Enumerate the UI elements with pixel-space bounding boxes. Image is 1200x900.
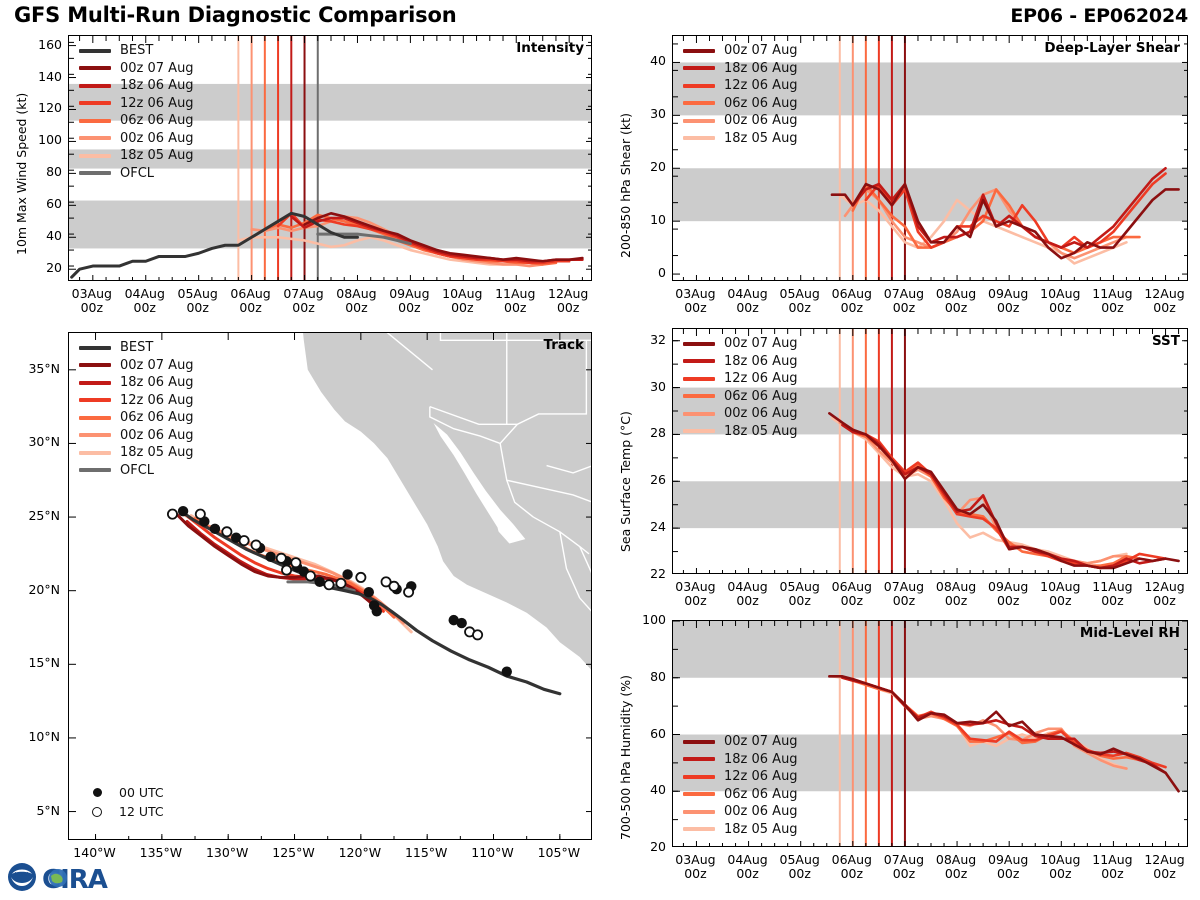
legend-intensity-item[interactable]: OFCL: [79, 165, 194, 183]
legend-track-item[interactable]: 06z 06 Aug: [79, 409, 194, 427]
axis-tick-label: 40: [628, 782, 666, 797]
axis-tick-label: 03Aug00z: [667, 853, 723, 882]
axis-tick-label: 105°W: [529, 846, 589, 860]
shear-ylabel: 200-850 hPa Shear (kt): [618, 113, 633, 258]
legend-color-swatch: [683, 740, 715, 744]
axis-tick-label: 03Aug00z: [64, 287, 120, 316]
legend-intensity-item[interactable]: BEST: [79, 42, 194, 60]
legend-label: OFCL: [120, 463, 154, 478]
legend-label: 18z 06 Aug: [120, 375, 194, 390]
axis-tick-label: 11Aug00z: [1084, 287, 1140, 316]
track-title: Track: [544, 337, 584, 353]
legend-label: 18z 05 Aug: [724, 822, 798, 837]
axis-tick-label: 10Aug00z: [1032, 287, 1088, 316]
legend-color-swatch: [79, 84, 111, 88]
legend-track-markers: 00 UTC12 UTC: [81, 783, 164, 821]
legend-color-swatch: [79, 66, 111, 70]
axis-tick-label: 07Aug00z: [276, 287, 332, 316]
axis-tick-label: 05Aug00z: [772, 287, 828, 316]
legend-color-swatch: [79, 136, 111, 140]
legend-color-swatch: [683, 429, 715, 433]
axis-tick-label: 135°W: [131, 846, 191, 860]
legend-label: 00z 07 Aug: [120, 61, 194, 76]
axis-tick-label: 05Aug00z: [170, 287, 226, 316]
axis-tick-label: 120: [24, 100, 62, 115]
sst-title: SST: [1152, 333, 1180, 349]
legend-marker-item: 00 UTC: [81, 783, 164, 802]
axis-tick-label: 11Aug00z: [1084, 853, 1140, 882]
legend-marker-label: 00 UTC: [119, 785, 164, 800]
axis-tick-label: 09Aug00z: [980, 287, 1036, 316]
legend-track-item[interactable]: 00z 07 Aug: [79, 357, 194, 375]
legend-sst-item[interactable]: 00z 07 Aug: [683, 335, 798, 353]
axis-tick-label: 40: [24, 228, 62, 243]
legend-intensity-item[interactable]: 00z 06 Aug: [79, 130, 194, 148]
legend-color-swatch: [79, 451, 111, 455]
legend-label: 00z 07 Aug: [724, 734, 798, 749]
legend-color-swatch: [79, 119, 111, 123]
legend-label: 12z 06 Aug: [120, 393, 194, 408]
legend-label: 06z 06 Aug: [724, 787, 798, 802]
legend-intensity-item[interactable]: 06z 06 Aug: [79, 112, 194, 130]
legend-label: 00z 07 Aug: [724, 336, 798, 351]
axis-tick-label: 60: [628, 726, 666, 741]
legend-label: 12z 06 Aug: [120, 96, 194, 111]
legend-color-swatch: [79, 416, 111, 420]
legend-rh-item[interactable]: 00z 07 Aug: [683, 733, 798, 751]
legend-color-swatch: [683, 775, 715, 779]
panel-shear: Deep-Layer Shear 00z 07 Aug18z 06 Aug12z…: [672, 35, 1188, 281]
legend-label: BEST: [120, 340, 153, 355]
legend-label: 00z 06 Aug: [724, 406, 798, 421]
axis-tick-label: 125°W: [264, 846, 324, 860]
footer-logos: NOAA CIRA: [6, 858, 134, 898]
legend-shear-item[interactable]: 12z 06 Aug: [683, 77, 798, 95]
axis-tick-label: 80: [628, 669, 666, 684]
legend-color-swatch: [683, 412, 715, 416]
axis-tick-label: 11Aug00z: [487, 287, 543, 316]
axis-tick-label: 11Aug00z: [1084, 580, 1140, 609]
noaa-logo: NOAA: [8, 863, 36, 891]
legend-color-swatch: [683, 66, 715, 70]
legend-intensity-item[interactable]: 00z 07 Aug: [79, 60, 194, 78]
legend-color-swatch: [683, 757, 715, 761]
legend-track-item[interactable]: 18z 06 Aug: [79, 374, 194, 392]
axis-tick-label: 0: [628, 265, 666, 280]
axis-tick-label: 03Aug00z: [667, 580, 723, 609]
axis-tick-label: 28: [628, 425, 666, 440]
legend-track-item[interactable]: 00z 06 Aug: [79, 427, 194, 445]
legend-label: 06z 06 Aug: [724, 389, 798, 404]
legend-color-swatch: [79, 468, 111, 472]
axis-tick-label: 06Aug00z: [824, 853, 880, 882]
axis-tick-label: 20: [24, 260, 62, 275]
legend-intensity: BEST00z 07 Aug18z 06 Aug12z 06 Aug06z 06…: [79, 42, 194, 182]
legend-marker-item: 12 UTC: [81, 802, 164, 821]
legend-label: 18z 06 Aug: [724, 752, 798, 767]
legend-shear-item[interactable]: 00z 06 Aug: [683, 112, 798, 130]
legend-label: 18z 05 Aug: [724, 424, 798, 439]
legend-track-item[interactable]: OFCL: [79, 462, 194, 480]
legend-color-swatch: [79, 381, 111, 385]
axis-tick-label: 05Aug00z: [772, 580, 828, 609]
legend-color-swatch: [79, 171, 111, 175]
axis-tick-label: 12Aug00z: [1137, 580, 1193, 609]
legend-color-swatch: [683, 827, 715, 831]
legend-label: 18z 05 Aug: [120, 445, 194, 460]
legend-color-swatch: [683, 394, 715, 398]
panel-track: Track BEST00z 07 Aug18z 06 Aug12z 06 Aug…: [68, 332, 592, 840]
axis-tick-label: 08Aug00z: [928, 287, 984, 316]
axis-tick-label: 140: [24, 69, 62, 84]
legend-label: 12z 06 Aug: [724, 371, 798, 386]
legend-label: 06z 06 Aug: [120, 410, 194, 425]
panel-intensity: Intensity BEST00z 07 Aug18z 06 Aug12z 06…: [68, 35, 592, 281]
legend-label: BEST: [120, 43, 153, 58]
legend-rh-item[interactable]: 18z 06 Aug: [683, 751, 798, 769]
axis-tick-label: 24: [628, 519, 666, 534]
axis-tick-label: 12Aug00z: [540, 287, 596, 316]
legend-intensity-item[interactable]: 18z 06 Aug: [79, 77, 194, 95]
legend-shear-item[interactable]: 06z 06 Aug: [683, 95, 798, 113]
axis-tick-label: 110°W: [463, 846, 523, 860]
legend-label: 00z 07 Aug: [724, 43, 798, 58]
legend-track: BEST00z 07 Aug18z 06 Aug12z 06 Aug06z 06…: [79, 339, 194, 479]
axis-tick-label: 32: [628, 332, 666, 347]
axis-tick-label: 08Aug00z: [328, 287, 384, 316]
legend-sst-item[interactable]: 12z 06 Aug: [683, 370, 798, 388]
axis-tick-label: 04Aug00z: [117, 287, 173, 316]
legend-shear-item[interactable]: 18z 05 Aug: [683, 130, 798, 148]
svg-text:NOAA: NOAA: [15, 872, 30, 878]
axis-tick-label: 35°N: [8, 361, 60, 376]
legend-sst-item[interactable]: 18z 06 Aug: [683, 353, 798, 371]
axis-tick-label: 09Aug00z: [980, 853, 1036, 882]
legend-color-swatch: [683, 377, 715, 381]
axis-tick-label: 09Aug00z: [980, 580, 1036, 609]
legend-marker-label: 12 UTC: [119, 804, 164, 819]
axis-tick-label: 03Aug00z: [667, 287, 723, 316]
axis-tick-label: 15°N: [8, 655, 60, 670]
rh-title: Mid-Level RH: [1080, 625, 1180, 641]
legend-rh-item[interactable]: 18z 05 Aug: [683, 821, 798, 839]
legend-track-item[interactable]: 12z 06 Aug: [79, 392, 194, 410]
legend-label: 18z 06 Aug: [120, 78, 194, 93]
legend-label: 18z 05 Aug: [120, 148, 194, 163]
legend-label: 00z 06 Aug: [724, 113, 798, 128]
axis-tick-label: 26: [628, 472, 666, 487]
axis-tick-label: 30: [628, 106, 666, 121]
axis-tick-label: 80: [24, 164, 62, 179]
legend-color-swatch: [79, 433, 111, 437]
legend-track-item[interactable]: BEST: [79, 339, 194, 357]
legend-label: 18z 06 Aug: [724, 354, 798, 369]
filled-dot-icon: [93, 788, 102, 797]
axis-tick-label: 22: [628, 566, 666, 581]
legend-color-swatch: [683, 136, 715, 140]
axis-tick-label: 115°W: [396, 846, 456, 860]
legend-color-swatch: [79, 154, 111, 158]
legend-shear-item[interactable]: 00z 07 Aug: [683, 42, 798, 60]
legend-label: 00z 07 Aug: [120, 358, 194, 373]
axis-tick-label: 130°W: [197, 846, 257, 860]
axis-tick-label: 06Aug00z: [824, 287, 880, 316]
axis-tick-label: 12Aug00z: [1137, 853, 1193, 882]
legend-color-swatch: [79, 398, 111, 402]
legend-label: 00z 06 Aug: [724, 804, 798, 819]
legend-sst: 00z 07 Aug18z 06 Aug12z 06 Aug06z 06 Aug…: [683, 335, 798, 440]
axis-tick-label: 06Aug00z: [223, 287, 279, 316]
legend-color-swatch: [683, 359, 715, 363]
legend-color-swatch: [683, 84, 715, 88]
axis-tick-label: 20: [628, 159, 666, 174]
axis-tick-label: 04Aug00z: [720, 287, 776, 316]
axis-tick-label: 20°N: [8, 582, 60, 597]
legend-rh-item[interactable]: 00z 06 Aug: [683, 803, 798, 821]
axis-tick-label: 120°W: [330, 846, 390, 860]
legend-track-item[interactable]: 18z 05 Aug: [79, 444, 194, 462]
page-title: GFS Multi-Run Diagnostic Comparison: [14, 3, 456, 27]
axis-tick-label: 25°N: [8, 508, 60, 523]
rh-ylabel: 700-500 hPa Humidity (%): [618, 675, 633, 840]
legend-rh: 00z 07 Aug18z 06 Aug12z 06 Aug06z 06 Aug…: [683, 733, 798, 838]
shear-title: Deep-Layer Shear: [1044, 40, 1180, 56]
axis-tick-label: 09Aug00z: [381, 287, 437, 316]
axis-tick-label: 30°N: [8, 434, 60, 449]
legend-label: 18z 05 Aug: [724, 131, 798, 146]
legend-rh-item[interactable]: 12z 06 Aug: [683, 768, 798, 786]
panel-rh: Mid-Level RH 00z 07 Aug18z 06 Aug12z 06 …: [672, 620, 1188, 847]
axis-tick-label: 100: [628, 612, 666, 627]
legend-color-swatch: [79, 363, 111, 367]
legend-label: 06z 06 Aug: [120, 113, 194, 128]
legend-label: 12z 06 Aug: [724, 78, 798, 93]
legend-sst-item[interactable]: 00z 06 Aug: [683, 405, 798, 423]
legend-color-swatch: [79, 346, 111, 350]
legend-label: 00z 06 Aug: [120, 131, 194, 146]
legend-color-swatch: [79, 49, 111, 53]
axis-tick-label: 04Aug00z: [720, 580, 776, 609]
legend-color-swatch: [683, 49, 715, 53]
legend-color-swatch: [79, 101, 111, 105]
legend-intensity-item[interactable]: 18z 05 Aug: [79, 147, 194, 165]
legend-color-swatch: [683, 101, 715, 105]
axis-tick-label: 06Aug00z: [824, 580, 880, 609]
legend-label: OFCL: [120, 166, 154, 181]
legend-label: 12z 06 Aug: [724, 769, 798, 784]
axis-tick-label: 07Aug00z: [876, 287, 932, 316]
legend-shear: 00z 07 Aug18z 06 Aug12z 06 Aug06z 06 Aug…: [683, 42, 798, 147]
axis-tick-label: 04Aug00z: [720, 853, 776, 882]
storm-id-label: EP06 - EP062024: [1010, 5, 1188, 27]
axis-tick-label: 10Aug00z: [434, 287, 490, 316]
axis-tick-label: 10Aug00z: [1032, 580, 1088, 609]
axis-tick-label: 5°N: [8, 803, 60, 818]
axis-tick-label: 20: [628, 839, 666, 854]
legend-sst-item[interactable]: 06z 06 Aug: [683, 388, 798, 406]
cira-logo: CIRA: [42, 865, 108, 895]
axis-tick-label: 100: [24, 132, 62, 147]
open-dot-icon: [92, 807, 102, 817]
legend-rh-item[interactable]: 06z 06 Aug: [683, 786, 798, 804]
axis-tick-label: 12Aug00z: [1137, 287, 1193, 316]
axis-tick-label: 05Aug00z: [772, 853, 828, 882]
axis-tick-label: 10Aug00z: [1032, 853, 1088, 882]
axis-tick-label: 40: [628, 53, 666, 68]
legend-color-swatch: [683, 342, 715, 346]
axis-tick-label: 60: [24, 196, 62, 211]
axis-tick-label: 07Aug00z: [876, 580, 932, 609]
axis-tick-label: 07Aug00z: [876, 853, 932, 882]
legend-color-swatch: [683, 810, 715, 814]
panel-sst: SST 00z 07 Aug18z 06 Aug12z 06 Aug06z 06…: [672, 328, 1188, 574]
legend-sst-item[interactable]: 18z 05 Aug: [683, 423, 798, 441]
legend-shear-item[interactable]: 18z 06 Aug: [683, 60, 798, 78]
axis-tick-label: 08Aug00z: [928, 853, 984, 882]
axis-tick-label: 30: [628, 379, 666, 394]
legend-label: 00z 06 Aug: [120, 428, 194, 443]
intensity-title: Intensity: [516, 40, 584, 56]
axis-tick-label: 10°N: [8, 729, 60, 744]
legend-label: 18z 06 Aug: [724, 61, 798, 76]
legend-color-swatch: [683, 792, 715, 796]
axis-tick-label: 160: [24, 37, 62, 52]
axis-tick-label: 08Aug00z: [928, 580, 984, 609]
legend-label: 06z 06 Aug: [724, 96, 798, 111]
axis-tick-label: 10: [628, 212, 666, 227]
legend-color-swatch: [683, 119, 715, 123]
legend-intensity-item[interactable]: 12z 06 Aug: [79, 95, 194, 113]
